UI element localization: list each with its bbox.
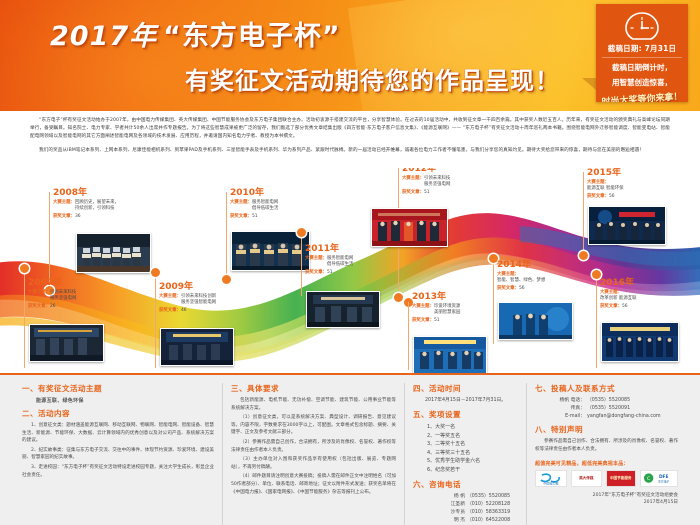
- timeline-stem-2009: [155, 272, 156, 368]
- badge-promo-3: 时尚大奖等你来拿！: [596, 88, 688, 102]
- timeline-theme-2008-b: 持续创新，引领科技: [53, 206, 157, 212]
- section-heading-6: 六、咨询电话: [413, 479, 518, 490]
- contact-row: 明 杰（010）64522008: [413, 517, 518, 525]
- submission-email[interactable]: yangfan@dongfang-china.com: [587, 414, 661, 419]
- timeline-card-2014: 2014年 大赛主题： 智能、智慧、绿色、梦想 获奖文章：56: [497, 260, 601, 292]
- section-heading-5: 五、奖项设置: [413, 409, 518, 420]
- china-power-media-logo: 中国电力报: [535, 470, 567, 487]
- timeline-photo-2014: [498, 302, 573, 340]
- timeline-stem-2014: [493, 258, 494, 344]
- dongfang-electronics-logo: C DFE 东方电子: [640, 470, 678, 487]
- timeline-section: 2008年 大赛主题：回顾历史，展望未来， 持续创新，引领科技 获奖文章：36: [0, 168, 700, 373]
- timeline-photo-2011: [306, 291, 380, 328]
- award-item: 6、纪念奖若干: [413, 466, 518, 475]
- timeline-theme-2007-b: 服务坚强电网: [28, 296, 132, 302]
- award-item: 5、优秀学生助学金六名: [413, 457, 518, 466]
- timeline-theme-2009-b: 服务坚强智能电网: [159, 300, 263, 306]
- section-heading-4: 四、活动时间: [413, 383, 518, 394]
- footer-signature-line-1: 2017年“东方电子杯”有奖征文活动组委会: [535, 492, 678, 499]
- submission-value: （0535）5520085: [587, 398, 630, 403]
- contact-row: 江圣新（010）52208128: [413, 501, 518, 509]
- timeline-theme-2015-a: 能源互联 智能环保: [587, 186, 691, 192]
- timeline-stem-2008: [49, 192, 50, 291]
- timeline-year-2012: 2012年: [402, 168, 506, 175]
- timeline-count-2007: 获奖文章：26: [28, 304, 132, 310]
- timeline-photo-2015: [588, 206, 666, 245]
- contact-phone: （0535）5520085: [467, 494, 510, 499]
- yingda-media-logo-text: 英大传媒: [579, 476, 593, 481]
- timeline-node-2007[interactable]: [20, 264, 29, 273]
- svg-text:中国电力报: 中国电力报: [543, 481, 558, 486]
- timeline-theme-2011-b: 倡导低碳生活: [305, 262, 409, 268]
- timeline-stem-2011: [301, 232, 302, 296]
- timeline-count-2012: 获奖文章：51: [402, 190, 506, 196]
- section-2-item-1: 1、创意征文类：题材涵盖能源互联网、移动互联网、物联网、智能电网、智能设备、智慧…: [22, 422, 214, 445]
- details-columns: 一、有奖征文活动主题 能源互联、绿色环保 二、活动内容 1、创意征文类：题材涵盖…: [14, 383, 686, 525]
- section-heading-8: 八、特别声明: [535, 424, 678, 435]
- china-energy-conservation-logo: 中国节能服务: [606, 470, 637, 487]
- timeline-year-2009: 2009年: [159, 282, 263, 293]
- clock-icon: [596, 4, 688, 42]
- submission-row: 杨帆 电话：（0535）5520085: [535, 397, 678, 405]
- timeline-card-2016: 2016年 大赛主题： 改革创新 能源互联 获奖文章：56: [600, 278, 700, 310]
- badge-promo-2: 用智慧创造惊喜，: [596, 77, 688, 88]
- contact-row: 杨 帆（0535）5520085: [413, 493, 518, 501]
- timeline-theme-2014-a: 智能、智慧、绿色、梦想: [497, 278, 601, 284]
- section-3-lead: 包括新能源、电机节能、无功补偿、空调节能、建筑节能、公用事业节能等系统解决方案。: [231, 397, 396, 412]
- timeline-count-2014: 获奖文章：56: [497, 286, 601, 292]
- timeline-card-2009: 2009年 大赛主题：引领未来科技创新 服务坚强智能电网 获奖文章：46: [159, 282, 263, 314]
- title-line-2: 有奖征文活动期待您的作品呈现！: [50, 61, 570, 96]
- section-3-item-2: （2）参赛作品需自己创作，合法拥有，所涉及的肖像权、名誉权、著作权等法律责任由作…: [231, 439, 396, 454]
- timeline-card-2012: 2012年 大赛主题：引领未来科技 服务坚强电网 获奖文章：51: [402, 168, 506, 196]
- badge-promo-1: 截稿日期倒计时，: [596, 62, 688, 73]
- details-column-3: 四、活动时间 2017年4月15日－2017年7月31日。 五、奖项设置 1、大…: [404, 383, 526, 525]
- title-cup-name: “东方电子杯”: [163, 21, 341, 52]
- timeline-photo-2010: [231, 231, 310, 271]
- timeline-count-2008: 获奖文章：36: [53, 214, 157, 220]
- timeline-year-2014: 2014年: [497, 260, 601, 271]
- yingda-media-logo: 英大传媒: [571, 470, 602, 487]
- award-item: 2、一等奖五名: [413, 432, 518, 441]
- contact-name: 江圣新: [431, 501, 465, 509]
- section-2-item-3: 3、走进校园：“东方电子杯”有奖征文活动特设走进校园专题，关注大学生成长，彰显企…: [22, 464, 214, 479]
- details-section: 一、有奖征文活动主题 能源互联、绿色环保 二、活动内容 1、创意征文类：题材涵盖…: [0, 373, 700, 525]
- award-item: 3、二等奖十五名: [413, 440, 518, 449]
- award-item: 4、三等奖三十五名: [413, 449, 518, 458]
- award-list: 1、大奖一名 2、一等奖五名 3、二等奖十五名 4、三等奖三十五名 5、优秀学生…: [413, 423, 518, 475]
- timeline-card-2010: 2010年 大赛主题：服务智能电网 倡导低碳生活 获奖文章：51: [230, 188, 334, 220]
- timeline-node-2011[interactable]: [297, 228, 306, 237]
- svg-text:东方电子: 东方电子: [658, 480, 669, 484]
- section-heading-3: 三、具体要求: [231, 383, 396, 394]
- timeline-photo-2013: [413, 336, 487, 373]
- sponsor-title: 超值完美可见精品，超低完美典视本品：: [535, 460, 678, 467]
- timeline-stem-2007: [24, 268, 25, 368]
- deadline-badge: 截稿日期: 7月31日 截稿日期倒计时， 用智慧创造惊喜， 时尚大奖等你来拿！: [596, 4, 688, 102]
- contact-phone: （010）64522008: [467, 518, 510, 523]
- details-column-4: 七、投稿人及联系方式 杨帆 电话：（0535）5520085 传真：（0535）…: [526, 383, 686, 525]
- contact-phone: （010）52208128: [467, 502, 510, 507]
- section-4-value: 2017年4月15日－2017年7月31日。: [413, 397, 518, 405]
- timeline-photo-2016: [601, 322, 679, 362]
- timeline-year-2015: 2015年: [587, 168, 691, 179]
- china-energy-conservation-logo-text: 中国节能服务: [610, 476, 632, 481]
- section-3-item-4: （4）邮件题目请注明创意大赛投稿；投稿人需在邮件正文中注明姓名（可加50作者部分…: [231, 473, 396, 496]
- section-3-item-3: （3）主办单位对入围和获奖作品享有使用权（包括出版、展览、专题网站），不再另付稿…: [231, 456, 396, 471]
- timeline-photo-2012: [371, 208, 448, 247]
- submission-row: 传真：（0535）5520091: [535, 405, 678, 413]
- details-column-1: 一、有奖征文活动主题 能源互联、绿色环保 二、活动内容 1、创意征文类：题材涵盖…: [14, 383, 222, 525]
- timeline-count-2009: 获奖文章：46: [159, 308, 263, 314]
- timeline-card-2007: 2007年 大赛主题：引领未来科技 服务坚强电网 获奖文章：26: [28, 278, 132, 310]
- section-2-item-2: 2、纪实故事类：征集与东方电子交流、交往中的事件、体现节约资源、珍爱环境、建设美…: [22, 447, 214, 462]
- section-heading-1: 一、有奖征文活动主题: [22, 383, 214, 394]
- timeline-card-2011: 2011年 大赛主题：服务智能电网 倡导低碳生活 获奖文章：51: [305, 244, 409, 276]
- timeline-photo-2009: [160, 328, 234, 366]
- footer-signature-line-2: 2017年4月15日: [535, 499, 678, 506]
- timeline-year-2007: 2007年: [28, 278, 132, 289]
- contact-phone: （010）58363319: [467, 510, 510, 515]
- title-line-1: 2017年“东方电子杯”: [50, 14, 570, 53]
- deadline-date: 截稿日期: 7月31日: [602, 43, 682, 58]
- banner-fold-shadow: [582, 78, 596, 90]
- timeline-year-2010: 2010年: [230, 188, 334, 199]
- section-8-text: 参赛作品需自己创作、合法拥有、所涉及的肖像权、名誉权、著作权等法律责任由作者本人…: [535, 438, 678, 453]
- intro-paragraph-1: “东方电子”杯有奖征文活动始办于2007年，由中国电力传媒集团、英大传媒集团、中…: [30, 117, 670, 142]
- poster-title: 2017年“东方电子杯” 有奖征文活动期待您的作品呈现！: [50, 14, 570, 96]
- timeline-stem-2010: [226, 192, 227, 280]
- timeline-year-2016: 2016年: [600, 278, 700, 289]
- timeline-photo-2008: [76, 233, 151, 273]
- contact-name: 明 杰: [431, 517, 465, 525]
- section-heading-7: 七、投稿人及联系方式: [535, 383, 678, 394]
- timeline-count-2011: 获奖文章：51: [305, 270, 409, 276]
- timeline-theme-2016-a: 改革创新 能源互联: [600, 296, 700, 302]
- submission-label: 传真：: [545, 405, 585, 413]
- title-year: 2017年: [50, 21, 157, 52]
- details-column-2: 三、具体要求 包括新能源、电机节能、无功补偿、空调节能、建筑节能、公用事业节能等…: [222, 383, 404, 525]
- timeline-count-2016: 获奖文章：56: [600, 304, 700, 310]
- award-item: 1、大奖一名: [413, 423, 518, 432]
- section-3-item-1: （1）创意征文类，可以是系统解决方案、典型设计、调研报告、意见建议等，内容不限，…: [231, 414, 396, 437]
- timeline-stem-2013b: [408, 302, 409, 370]
- timeline-node-2009[interactable]: [151, 268, 160, 277]
- header-banner: 2017年“东方电子杯” 有奖征文活动期待您的作品呈现！ 截稿日期: 7月31日…: [0, 0, 700, 111]
- timeline-photo-2007: [29, 324, 104, 362]
- timeline-card-2015: 2015年 大赛主题： 能源互联 智能环保 获奖文章：56: [587, 168, 691, 200]
- section-heading-2: 二、活动内容: [22, 408, 214, 419]
- timeline-count-2015: 获奖文章：56: [587, 194, 691, 200]
- intro-paragraph-2: 我们的奖品从IBM笔记本系列、上网本系列、尼康佳能相机系列、到苹果PAD及手机系…: [30, 147, 670, 155]
- timeline-card-2008: 2008年 大赛主题：回顾历史，展望未来， 持续创新，引领科技 获奖文章：36: [53, 188, 157, 220]
- submission-label: 杨帆 电话：: [545, 397, 585, 405]
- section-1-subtitle: 能源互联、绿色环保: [36, 397, 214, 404]
- timeline-node-2015[interactable]: [579, 251, 588, 260]
- sponsor-logos: 中国电力报 英大传媒 中国节能服务 C DFE 东方电: [535, 470, 678, 487]
- submission-label: E-mail：: [545, 413, 585, 421]
- timeline-theme-2010-b: 倡导低碳生活: [230, 206, 334, 212]
- contact-name: 杨 帆: [431, 493, 465, 501]
- contact-row: 沙专员（010）58363319: [413, 509, 518, 517]
- timeline-stem-2016: [596, 274, 597, 368]
- poster-root: 2017年“东方电子杯” 有奖征文活动期待您的作品呈现！ 截稿日期: 7月31日…: [0, 0, 700, 525]
- timeline-theme-2012-b: 服务坚强电网: [402, 182, 506, 188]
- submission-row: E-mail：yangfan@dongfang-china.com: [535, 413, 678, 421]
- timeline-stem-2015: [583, 172, 584, 256]
- submission-value: （0535）5520091: [587, 406, 630, 411]
- timeline-node-2012[interactable]: [394, 293, 403, 302]
- timeline-year-2008: 2008年: [53, 188, 157, 199]
- intro-section: “东方电子”杯有奖征文活动始办于2007年，由中国电力传媒集团、英大传媒集团、中…: [0, 111, 700, 169]
- timeline-count-2010: 获奖文章：51: [230, 214, 334, 220]
- contact-name: 沙专员: [431, 509, 465, 517]
- timeline-year-2011: 2011年: [305, 244, 409, 255]
